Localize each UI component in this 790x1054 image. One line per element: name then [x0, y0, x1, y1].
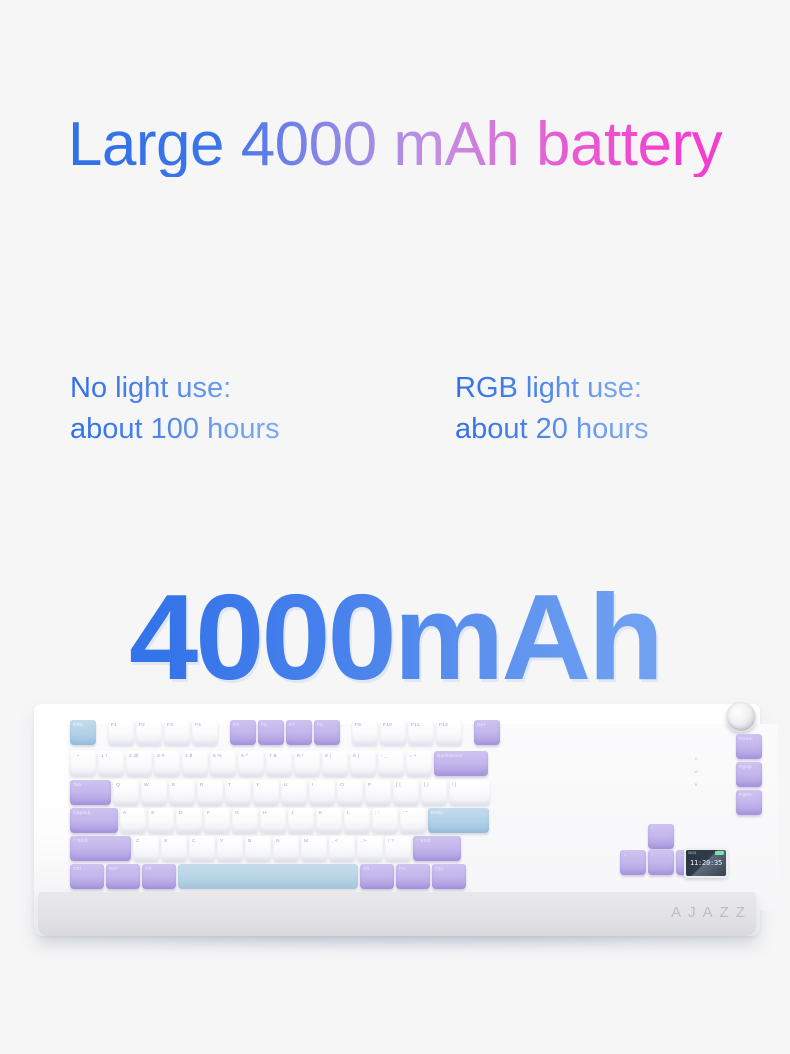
key-label: Del	[477, 723, 485, 728]
key-f8[interactable]: F8	[314, 720, 340, 745]
arrow-down-key[interactable]: ↓	[648, 850, 674, 875]
key-label: , <	[332, 839, 338, 844]
key-esc[interactable]: ESC	[70, 720, 96, 745]
key-win[interactable]: Win	[106, 864, 140, 889]
key-shift[interactable]: ↑ Shift	[70, 836, 131, 861]
key-q[interactable]: Q	[113, 780, 139, 805]
key-blank[interactable]: = +	[406, 751, 432, 776]
keyboard-product-image: ESCF1F2F3F4F5F6F7F8F9F10F11F12Del` ~1 !2…	[8, 688, 782, 956]
key-label: - _	[381, 754, 387, 759]
key-label: N	[276, 839, 280, 844]
key-label: 5 %	[213, 754, 222, 759]
key-f9[interactable]: F9	[352, 720, 378, 745]
key-label: B	[248, 839, 251, 844]
key-b[interactable]: B	[245, 836, 271, 861]
key-f1[interactable]: F1	[108, 720, 134, 745]
usage-no-light: No light use: about 100 hours	[70, 368, 280, 450]
key-y[interactable]: Y	[253, 780, 279, 805]
key-fn[interactable]: Fn	[396, 864, 430, 889]
key-blank[interactable]: ] }	[421, 780, 447, 805]
key-6[interactable]: 6 ^	[238, 751, 264, 776]
key-label: Fn	[399, 867, 405, 872]
key-label: F5	[233, 723, 239, 728]
key-alt[interactable]: Alt	[142, 864, 176, 889]
key-label: L	[347, 811, 350, 816]
arrow-up-keycap[interactable]: ↑	[648, 824, 674, 849]
key-blank	[464, 720, 472, 745]
key-label: PgUp	[739, 765, 752, 770]
key-c[interactable]: C	[189, 836, 215, 861]
key-label: M	[304, 839, 308, 844]
key-label: F	[207, 811, 210, 816]
key-label: / ?	[388, 839, 394, 844]
key-2[interactable]: 2 @	[126, 751, 152, 776]
key-label: E	[172, 783, 175, 788]
key-label: H	[263, 811, 267, 816]
key-blank[interactable]: [ {	[393, 780, 419, 805]
key-blank[interactable]: ; :	[372, 808, 398, 833]
key-tab[interactable]: Tab	[70, 780, 111, 805]
key-label: 2 @	[129, 754, 139, 759]
usage-rgb-light-line1: RGB light use:	[455, 368, 648, 409]
key-label: Backspace	[437, 754, 463, 759]
key-label: 9 (	[325, 754, 331, 759]
product-page: Large 4000 mAh battery No light use: abo…	[0, 0, 790, 1054]
key-label: F6	[261, 723, 267, 728]
key-l[interactable]: L	[344, 808, 370, 833]
key-label: F3	[167, 723, 173, 728]
key-f10[interactable]: F10	[380, 720, 406, 745]
key-h[interactable]: H	[260, 808, 286, 833]
key-label: V	[220, 839, 223, 844]
usage-rgb-light-line2: about 20 hours	[455, 409, 648, 450]
key-pgup[interactable]: PgUp	[736, 762, 762, 787]
keyboard-row-qwerty-row: TabQWERTYUIOP[ {] }\ |	[70, 780, 490, 806]
key-label: . >	[360, 839, 366, 844]
arrow-up-key[interactable]: ↑	[648, 824, 674, 849]
key-label: F12	[439, 723, 448, 728]
keyboard-row-home-row: CapsLkASDFGHJKL; :' "Enter	[70, 808, 489, 834]
indicator-dot-b: B	[695, 782, 698, 787]
key-blank	[220, 720, 228, 745]
indicator-dots: CWB	[694, 756, 698, 787]
key-label: Tab	[73, 783, 81, 788]
key-label: Z	[136, 839, 139, 844]
key-shift[interactable]: ↑ Shift	[413, 836, 461, 861]
key-blank[interactable]	[178, 864, 358, 889]
key-label: 3 #	[157, 754, 164, 759]
keyboard-row-number-row: ` ~1 !2 @3 #4 $5 %6 ^7 &8 *9 (0 )- _= +B…	[70, 751, 488, 777]
key-label: 1 !	[101, 754, 107, 759]
key-label: 8 *	[297, 754, 304, 759]
key-label: F2	[139, 723, 145, 728]
key-t[interactable]: T	[225, 780, 251, 805]
key-label: Ctrl	[73, 867, 81, 872]
key-p[interactable]: P	[365, 780, 391, 805]
key-label: F4	[195, 723, 201, 728]
key-label: ESC	[73, 723, 84, 728]
key-f4[interactable]: F4	[192, 720, 218, 745]
key-backspace[interactable]: Backspace	[434, 751, 488, 776]
key-f5[interactable]: F5	[230, 720, 256, 745]
key-7[interactable]: 7 &	[266, 751, 292, 776]
key-s[interactable]: S	[148, 808, 174, 833]
nav-key-cluster: HomePgUpPgDn	[736, 734, 762, 815]
key-label: A	[123, 811, 126, 816]
key-o[interactable]: O	[337, 780, 363, 805]
key-label: W	[144, 783, 149, 788]
key-blank[interactable]: ` ~	[70, 751, 96, 776]
usage-no-light-line2: about 100 hours	[70, 409, 280, 450]
key-del[interactable]: Del	[474, 720, 500, 745]
key-label: [ {	[396, 783, 401, 788]
key-label: G	[235, 811, 239, 816]
keyboard-bottom-bezel	[38, 892, 756, 936]
arrow-down-icon: ↓	[651, 853, 654, 858]
key-label: R	[200, 783, 204, 788]
key-ctrl[interactable]: Ctrl	[432, 864, 466, 889]
lcd-time: 11:20:35	[686, 859, 726, 867]
key-label: ; :	[375, 811, 380, 816]
key-k[interactable]: K	[316, 808, 342, 833]
key-label: Home	[739, 737, 753, 742]
key-w[interactable]: W	[141, 780, 167, 805]
key-8[interactable]: 8 *	[294, 751, 320, 776]
key-blank[interactable]: / ?	[385, 836, 411, 861]
key-label: F11	[411, 723, 420, 728]
key-label: ` ~	[73, 754, 79, 759]
keyboard-row-function-row: ESCF1F2F3F4F5F6F7F8F9F10F11F12Del	[70, 720, 500, 746]
key-9[interactable]: 9 (	[322, 751, 348, 776]
key-label: F7	[289, 723, 295, 728]
key-1[interactable]: 1 !	[98, 751, 124, 776]
key-f11[interactable]: F11	[408, 720, 434, 745]
usage-rgb-light: RGB light use: about 20 hours	[455, 368, 648, 450]
key-label: F10	[383, 723, 392, 728]
indicator-dot-w: W	[694, 769, 698, 774]
key-label: J	[291, 811, 294, 816]
key-5[interactable]: 5 %	[210, 751, 236, 776]
key-label: F8	[317, 723, 323, 728]
key-label: \ |	[452, 783, 457, 788]
key-label: F1	[111, 723, 117, 728]
key-label: PgDn	[739, 793, 752, 798]
key-a[interactable]: A	[120, 808, 146, 833]
key-label: I	[312, 783, 314, 788]
key-label: K	[319, 811, 322, 816]
key-label: Y	[256, 783, 259, 788]
key-z[interactable]: Z	[133, 836, 159, 861]
usage-stats: No light use: about 100 hours RGB light …	[0, 368, 790, 478]
key-f12[interactable]: F12	[436, 720, 462, 745]
key-home[interactable]: Home	[736, 734, 762, 759]
key-blank[interactable]: . >	[357, 836, 383, 861]
key-blank[interactable]: , <	[329, 836, 355, 861]
key-label: ] }	[424, 783, 429, 788]
key-g[interactable]: G	[232, 808, 258, 833]
key-capslk[interactable]: CapsLk	[70, 808, 118, 833]
key-f7[interactable]: F7	[286, 720, 312, 745]
key-0[interactable]: 0 )	[350, 751, 376, 776]
arrow-left-icon: ←	[623, 853, 628, 858]
key-f2[interactable]: F2	[136, 720, 162, 745]
key-label: D	[179, 811, 183, 816]
key-m[interactable]: M	[301, 836, 327, 861]
key-label: 6 ^	[241, 754, 248, 759]
key-label: 0 )	[353, 754, 359, 759]
key-f3[interactable]: F3	[164, 720, 190, 745]
key-label: F9	[355, 723, 361, 728]
key-label: 4 $	[185, 754, 192, 759]
arrow-left-key[interactable]: ←	[620, 850, 646, 875]
volume-knob[interactable]	[726, 702, 756, 732]
key-label: ' "	[403, 811, 408, 816]
key-label: O	[340, 783, 344, 788]
lcd-statusbar: 05/31	[688, 851, 724, 855]
key-enter[interactable]: Enter	[428, 808, 489, 833]
key-label: ↑ Shift	[416, 839, 431, 844]
key-j[interactable]: J	[288, 808, 314, 833]
key-label: C	[192, 839, 196, 844]
key-label: X	[164, 839, 167, 844]
keyboard-row-bottom-row: CtrlWinAltAltFnCtrl	[70, 864, 466, 890]
key-label: Ctrl	[435, 867, 443, 872]
key-label: = +	[409, 754, 417, 759]
key-i[interactable]: I	[309, 780, 335, 805]
key-n[interactable]: N	[273, 836, 299, 861]
key-label: 7 &	[269, 754, 277, 759]
key-ctrl[interactable]: Ctrl	[70, 864, 104, 889]
key-label: Alt	[145, 867, 151, 872]
key-label: U	[284, 783, 288, 788]
key-blank[interactable]: ' "	[400, 808, 426, 833]
brand-logo: AJAZZ	[671, 904, 752, 921]
key-d[interactable]: D	[176, 808, 202, 833]
indicator-dot-c: C	[695, 756, 698, 761]
arrow-up-icon: ↑	[651, 827, 654, 832]
key-label: T	[228, 783, 231, 788]
lcd-date-label: 05/31	[688, 851, 697, 855]
key-v[interactable]: V	[217, 836, 243, 861]
key-blank[interactable]: \ |	[449, 780, 490, 805]
key-blank	[342, 720, 350, 745]
key-label: Alt	[363, 867, 369, 872]
page-title: Large 4000 mAh battery	[0, 112, 790, 177]
battery-capacity-headline: 4000mAh	[0, 576, 790, 698]
lcd-screen: 05/31 11:20:35	[686, 850, 726, 876]
key-label: S	[151, 811, 154, 816]
keyboard-drop-shadow	[54, 934, 744, 950]
key-f[interactable]: F	[204, 808, 230, 833]
key-f6[interactable]: F6	[258, 720, 284, 745]
key-u[interactable]: U	[281, 780, 307, 805]
key-label: Win	[109, 867, 118, 872]
key-blank	[98, 720, 106, 745]
key-4[interactable]: 4 $	[182, 751, 208, 776]
key-blank[interactable]: - _	[378, 751, 404, 776]
key-label: Q	[116, 783, 120, 788]
key-e[interactable]: E	[169, 780, 195, 805]
key-label: Enter	[431, 811, 444, 816]
key-label: P	[368, 783, 371, 788]
usage-no-light-line1: No light use:	[70, 368, 280, 409]
key-alt[interactable]: Alt	[360, 864, 394, 889]
key-3[interactable]: 3 #	[154, 751, 180, 776]
key-pgdn[interactable]: PgDn	[736, 790, 762, 815]
key-label: ↑ Shift	[73, 839, 88, 844]
keyboard-row-shift-row: ↑ ShiftZXCVBNM, <. >/ ?↑ Shift	[70, 836, 461, 862]
lcd-screen-module[interactable]: 05/31 11:20:35	[684, 848, 728, 878]
key-label: CapsLk	[73, 811, 91, 816]
battery-icon	[715, 851, 724, 855]
keyboard-key-grid: ESCF1F2F3F4F5F6F7F8F9F10F11F12Del` ~1 !2…	[70, 718, 778, 914]
key-r[interactable]: R	[197, 780, 223, 805]
key-x[interactable]: X	[161, 836, 187, 861]
